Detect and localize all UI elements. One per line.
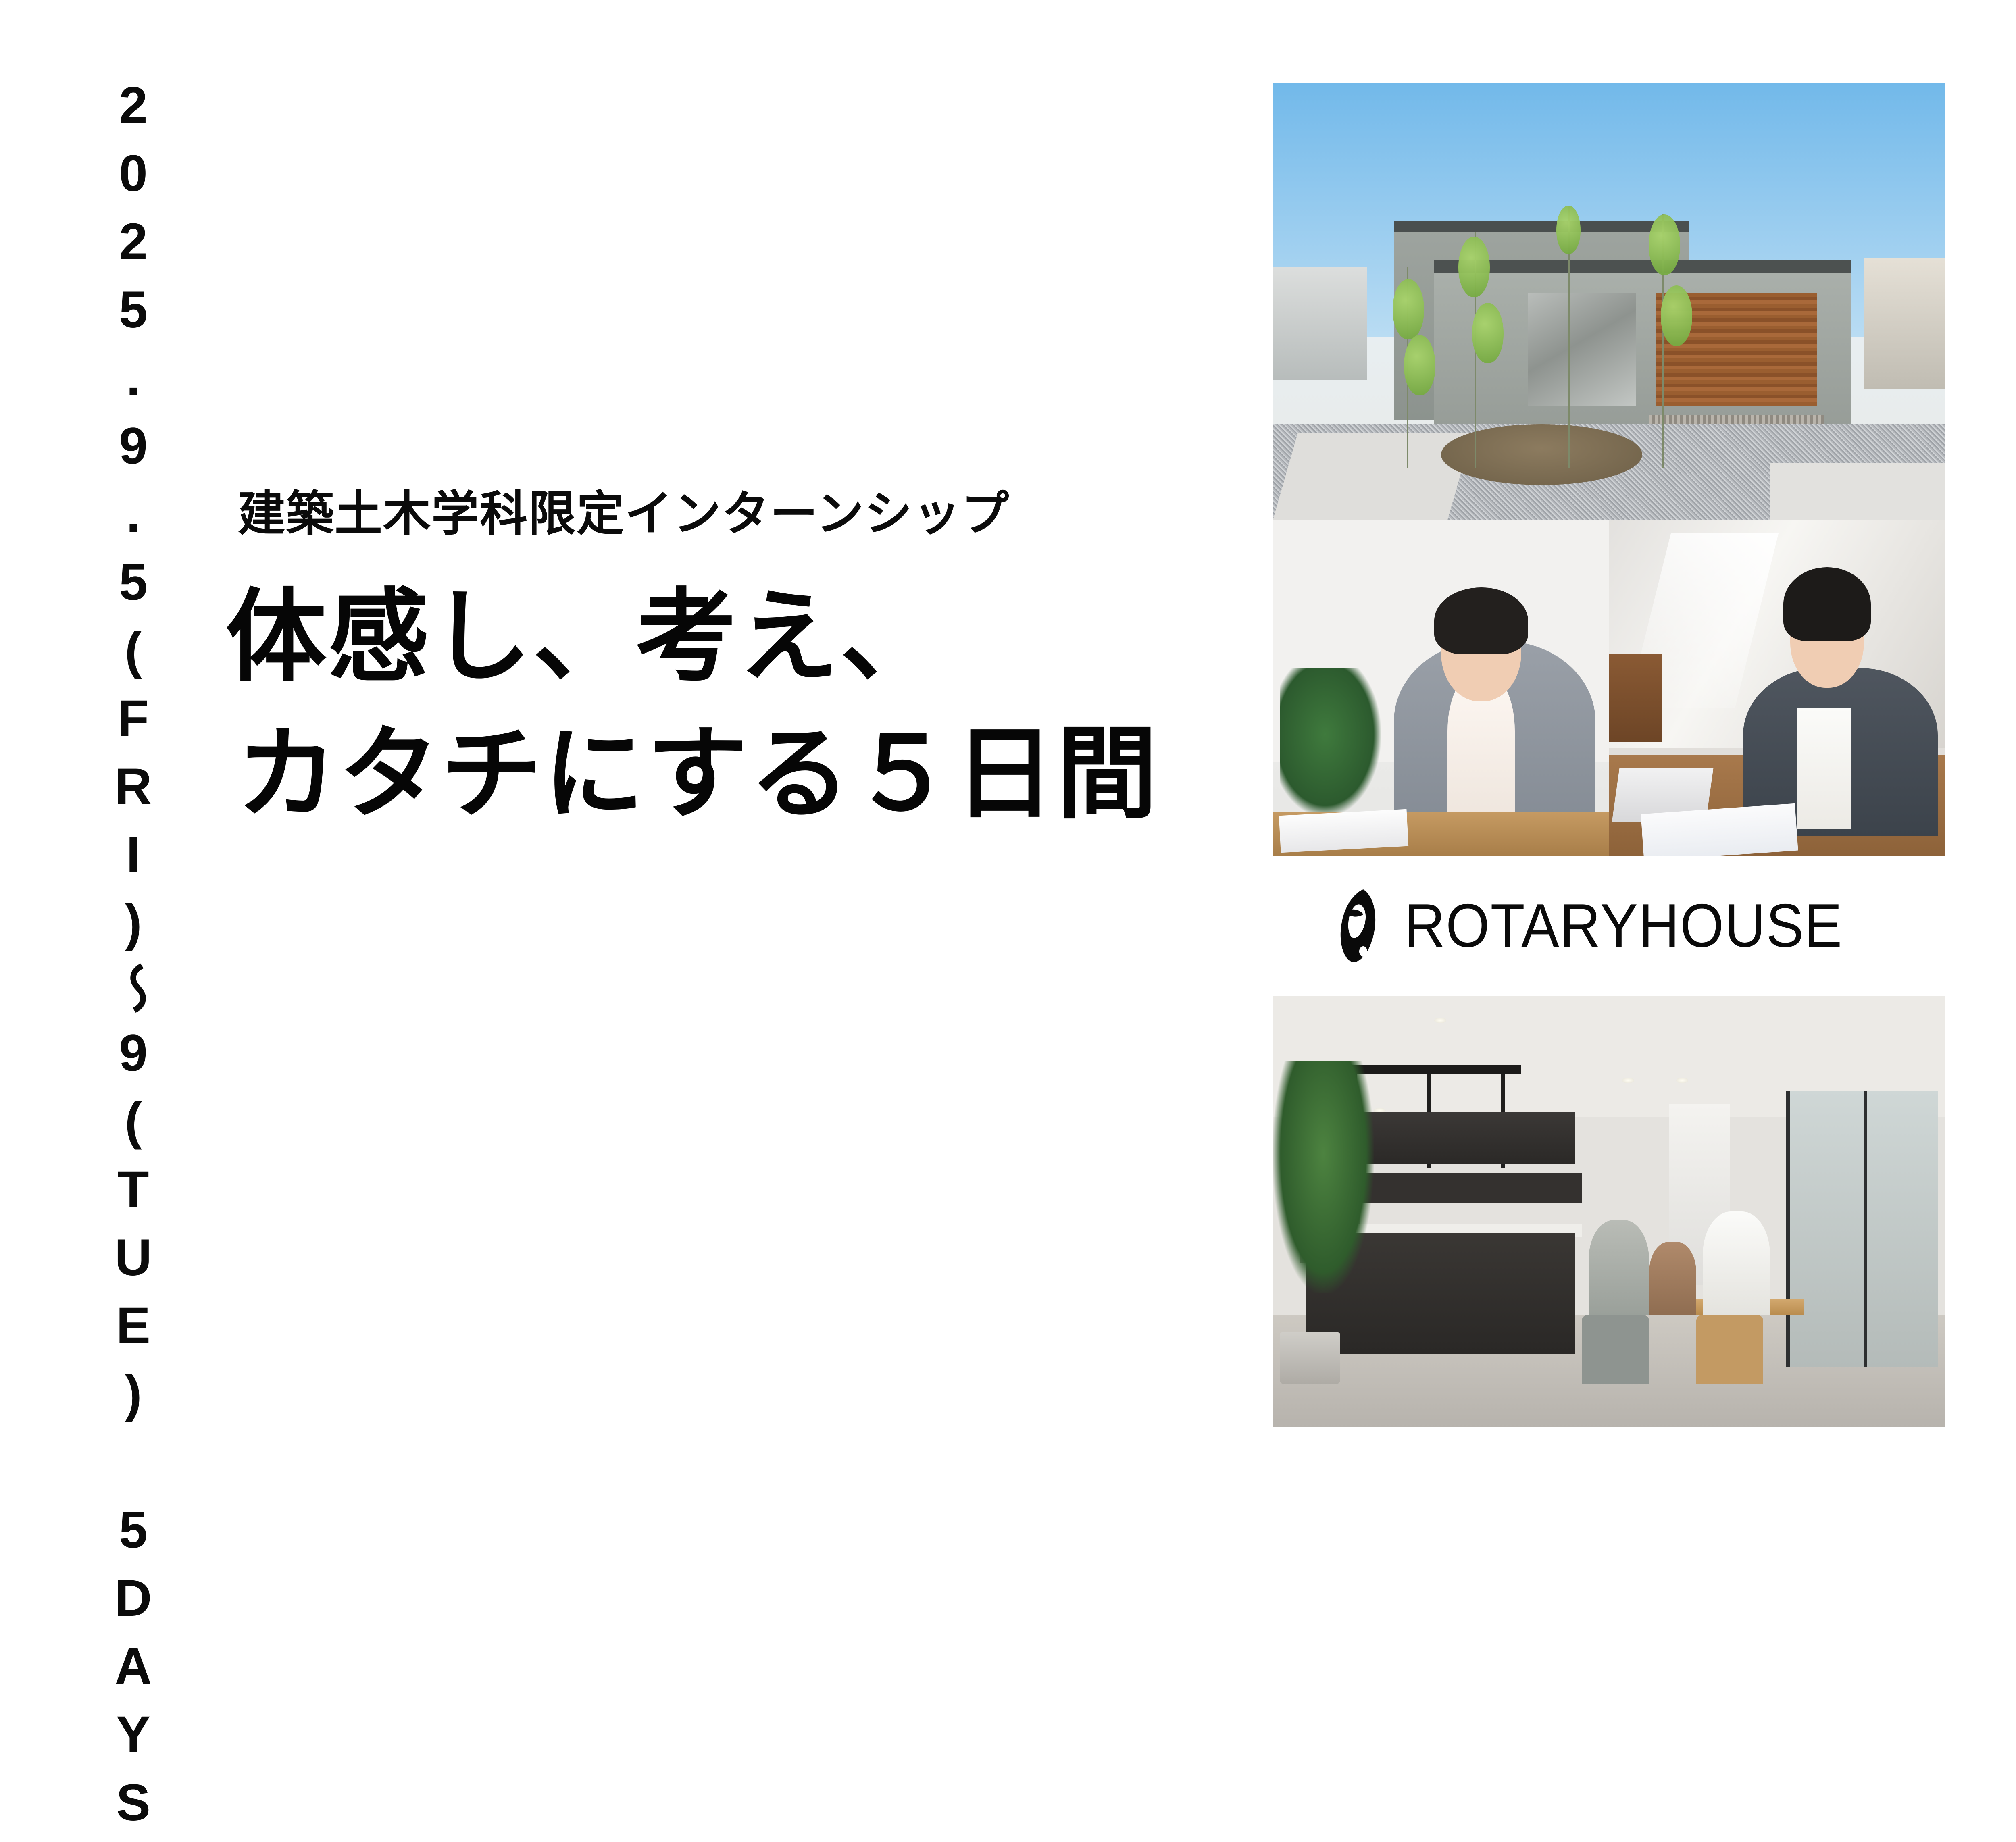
neighbor-house-left xyxy=(1273,267,1367,381)
photo-kitchen-dining xyxy=(1273,996,1945,1427)
photo-staff-interview xyxy=(1273,520,1609,856)
brand-name: ROTARYHOUSE xyxy=(1404,891,1843,961)
concrete-walkway xyxy=(1273,433,1472,520)
glass-wall xyxy=(1786,1091,1938,1367)
desk-papers xyxy=(1279,809,1408,852)
person-hair xyxy=(1434,587,1528,655)
house-front-eave xyxy=(1434,260,1851,273)
eyebrow-text: 建築土木学科限定インターンシップ xyxy=(238,488,1242,540)
person-shirt xyxy=(1797,708,1850,829)
headline-line-1: 体感し、考え、 xyxy=(226,568,1242,706)
tree-1 xyxy=(1407,267,1408,468)
photo-staff-drafting xyxy=(1609,520,1945,856)
photo-row xyxy=(1273,520,1945,856)
back-counter xyxy=(1360,1173,1582,1203)
crescent-leaf-icon xyxy=(1337,888,1385,964)
wooden-chair xyxy=(1609,654,1662,742)
brand-logo: ROTARYHOUSE xyxy=(1273,856,1945,996)
dining-chair-wood xyxy=(1696,1315,1764,1384)
headline-block: 建築土木学科限定インターンシップ 体感し、考え、 カタチにする５日間 xyxy=(226,488,1242,843)
event-date-strip: 2025.9.5(FRI)〜9(TUE) 5DAYS xyxy=(81,77,185,1447)
person-father xyxy=(1703,1211,1770,1315)
person-hair xyxy=(1783,567,1871,641)
tree-4 xyxy=(1662,214,1664,468)
photo-exterior-house xyxy=(1273,83,1945,520)
neighbor-house-right xyxy=(1864,258,1945,389)
headline-line-2: カタチにする５日間 xyxy=(236,706,1242,843)
dining-chair-gray xyxy=(1582,1315,1649,1384)
plant-pot xyxy=(1280,1332,1340,1384)
window-mullion xyxy=(1864,1091,1867,1367)
concrete-feature-panel xyxy=(1528,293,1636,407)
page-title: 体感し、考え、 カタチにする５日間 xyxy=(226,568,1242,843)
photo-column: ROTARYHOUSE xyxy=(1273,83,1945,1450)
potted-plant xyxy=(1280,668,1381,816)
house-upper-eave xyxy=(1394,221,1689,232)
planting-bed xyxy=(1441,424,1643,485)
tree-3 xyxy=(1568,206,1570,468)
person-mother xyxy=(1589,1220,1649,1315)
person-child xyxy=(1649,1242,1696,1315)
indoor-plant xyxy=(1273,1061,1374,1294)
downlight-1 xyxy=(1434,1018,1446,1023)
tree-2 xyxy=(1475,232,1476,468)
upper-cabinets xyxy=(1347,1112,1575,1164)
concrete-driveway xyxy=(1770,463,1945,520)
event-date-text: 2025.9.5(FRI)〜9(TUE) 5DAYS xyxy=(107,77,159,1842)
